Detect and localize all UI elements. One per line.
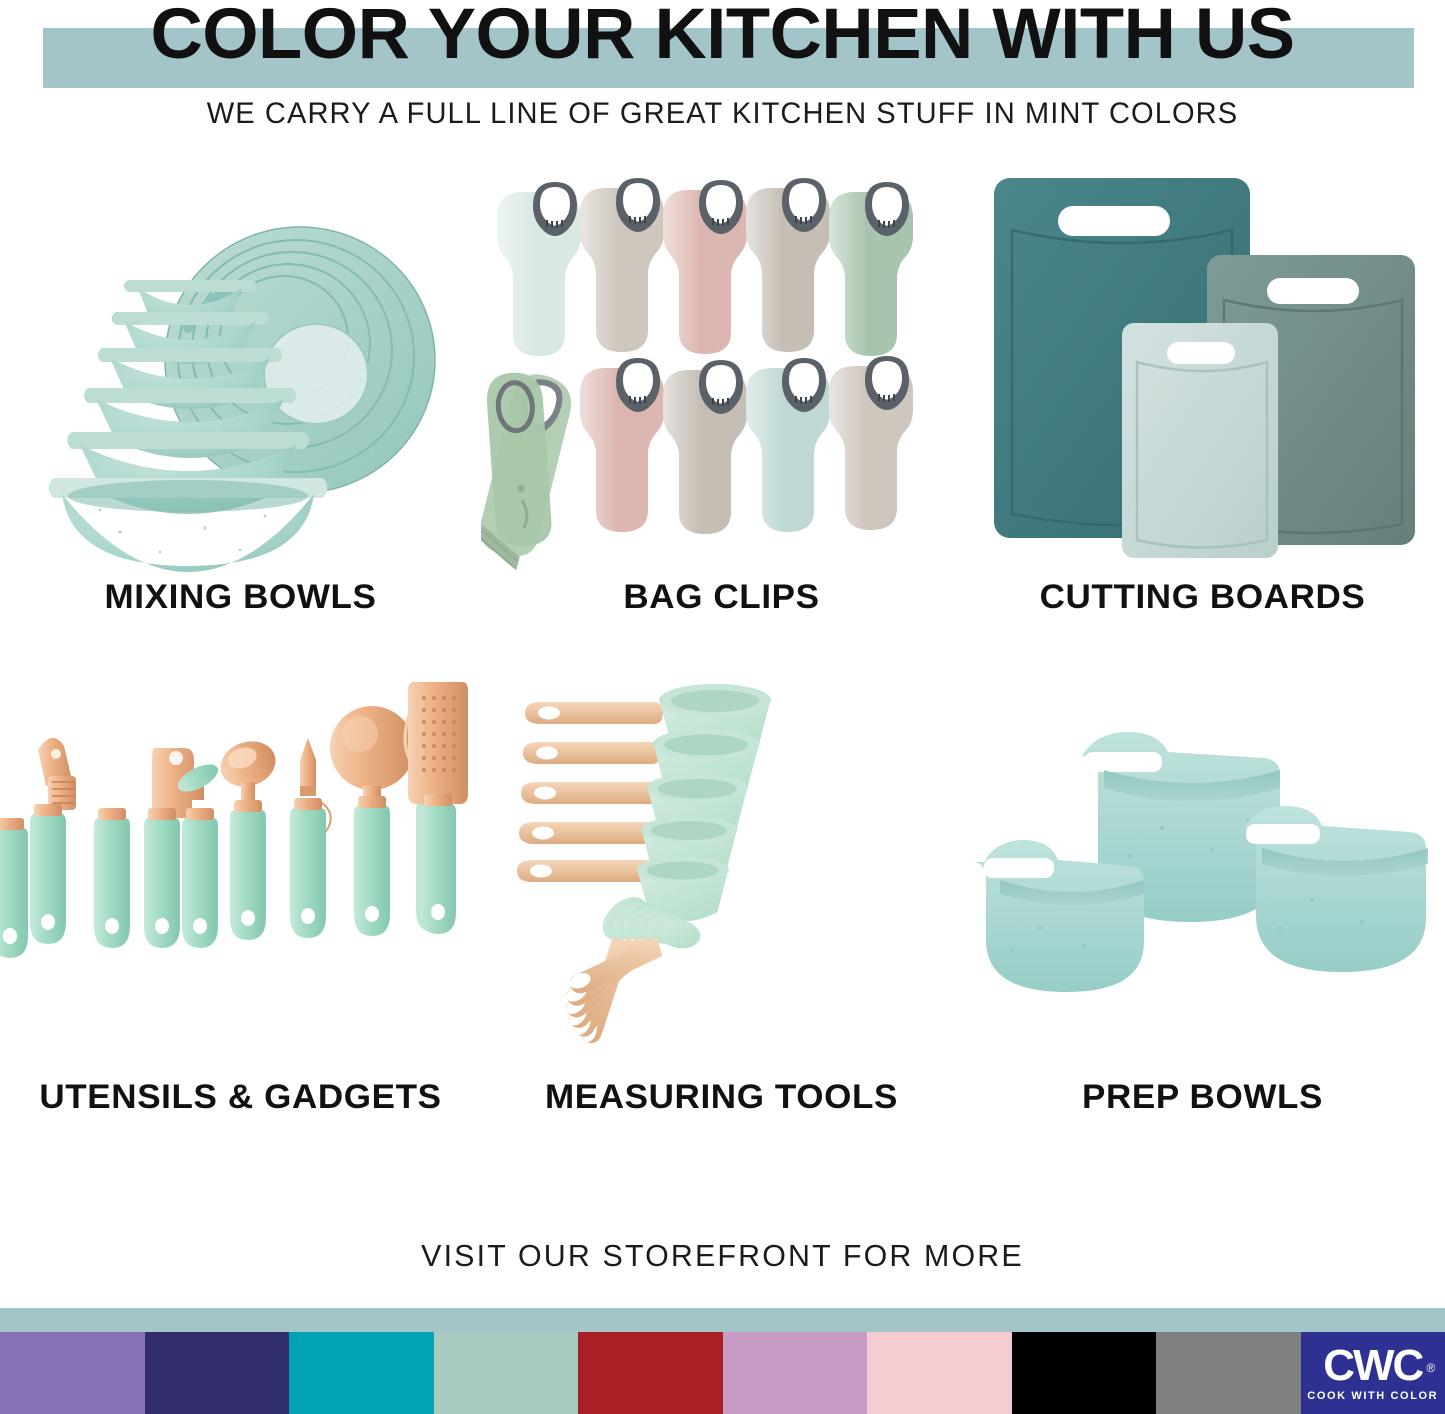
color-swatch-strip: CWC ® COOK WITH COLOR: [0, 1332, 1445, 1414]
bag-clips-illustration: [481, 160, 962, 575]
largest-mixing-bowl: [49, 478, 328, 572]
utensil-masher: [330, 706, 414, 936]
swatch-blush-pink: [867, 1332, 1012, 1414]
category-label-measuring-tools: MEASURING TOOLS: [474, 1078, 969, 1117]
swatch-black: [1012, 1332, 1157, 1414]
swatch-gray: [1156, 1332, 1301, 1414]
large-open-bag-clip: [481, 369, 577, 574]
category-card-bag-clips[interactable]: BAG CLIPS: [481, 160, 962, 660]
category-card-utensils-gadgets[interactable]: UTENSILS & GADGETS: [0, 660, 481, 1160]
category-label-prep-bowls: PREP BOWLS: [955, 1078, 1445, 1117]
category-card-cutting-boards[interactable]: CUTTING BOARDS: [962, 160, 1443, 660]
brand-logo[interactable]: CWC ® COOK WITH COLOR: [1301, 1332, 1445, 1414]
logo-mark-text: CWC: [1323, 1341, 1422, 1390]
logo-tagline: COOK WITH COLOR: [1307, 1390, 1438, 1402]
category-label-bag-clips: BAG CLIPS: [474, 578, 969, 617]
mixing-bowls-illustration: [0, 160, 481, 575]
logo-wordmark: CWC ®: [1323, 1345, 1422, 1387]
category-card-mixing-bowls[interactable]: MIXING BOWLS: [0, 160, 481, 660]
swatch-purple: [0, 1332, 145, 1414]
bag-clip-row-bottom: [580, 356, 913, 534]
utensil-ice-cream-scoop: [215, 734, 282, 940]
prep-bowls-illustration: [962, 660, 1443, 1075]
storefront-cta-text[interactable]: VISIT OUR STOREFRONT FOR MORE: [14, 1238, 1430, 1274]
header: COLOR YOUR KITCHEN WITH US WE CARRY A FU…: [0, 0, 1445, 150]
bag-clip-row-top: [497, 178, 913, 356]
page-title: COLOR YOUR KITCHEN WITH US: [0, 0, 1445, 72]
measuring-cups: [517, 684, 771, 921]
utensil-can-opener: [144, 748, 222, 948]
swatch-teal: [289, 1332, 434, 1414]
swatch-crimson: [578, 1332, 723, 1414]
utensil-peeler: [290, 738, 331, 938]
category-label-cutting-boards: CUTTING BOARDS: [955, 578, 1445, 617]
page-subtitle: WE CARRY A FULL LINE OF GREAT KITCHEN ST…: [22, 97, 1424, 131]
category-label-utensils-gadgets: UTENSILS & GADGETS: [0, 1078, 488, 1117]
footer-accent-strip: [0, 1308, 1445, 1332]
utensil-garlic-press: [30, 738, 76, 944]
measuring-tools-illustration: [481, 660, 962, 1075]
category-card-prep-bowls[interactable]: PREP BOWLS: [962, 660, 1443, 1160]
category-label-mixing-bowls: MIXING BOWLS: [0, 578, 488, 617]
utensils-gadgets-illustration: [0, 660, 481, 1075]
swatch-orchid: [723, 1332, 868, 1414]
prep-bowl-right: [1244, 806, 1428, 972]
swatch-sage-mint: [434, 1332, 579, 1414]
cutting-boards-illustration: [962, 160, 1443, 575]
cutting-board-small: [1122, 323, 1278, 558]
registered-trademark-icon: ®: [1426, 1347, 1435, 1389]
swatch-indigo: [145, 1332, 290, 1414]
category-grid: MIXING BOWLS: [0, 160, 1445, 1180]
category-card-measuring-tools[interactable]: MEASURING TOOLS: [481, 660, 962, 1160]
